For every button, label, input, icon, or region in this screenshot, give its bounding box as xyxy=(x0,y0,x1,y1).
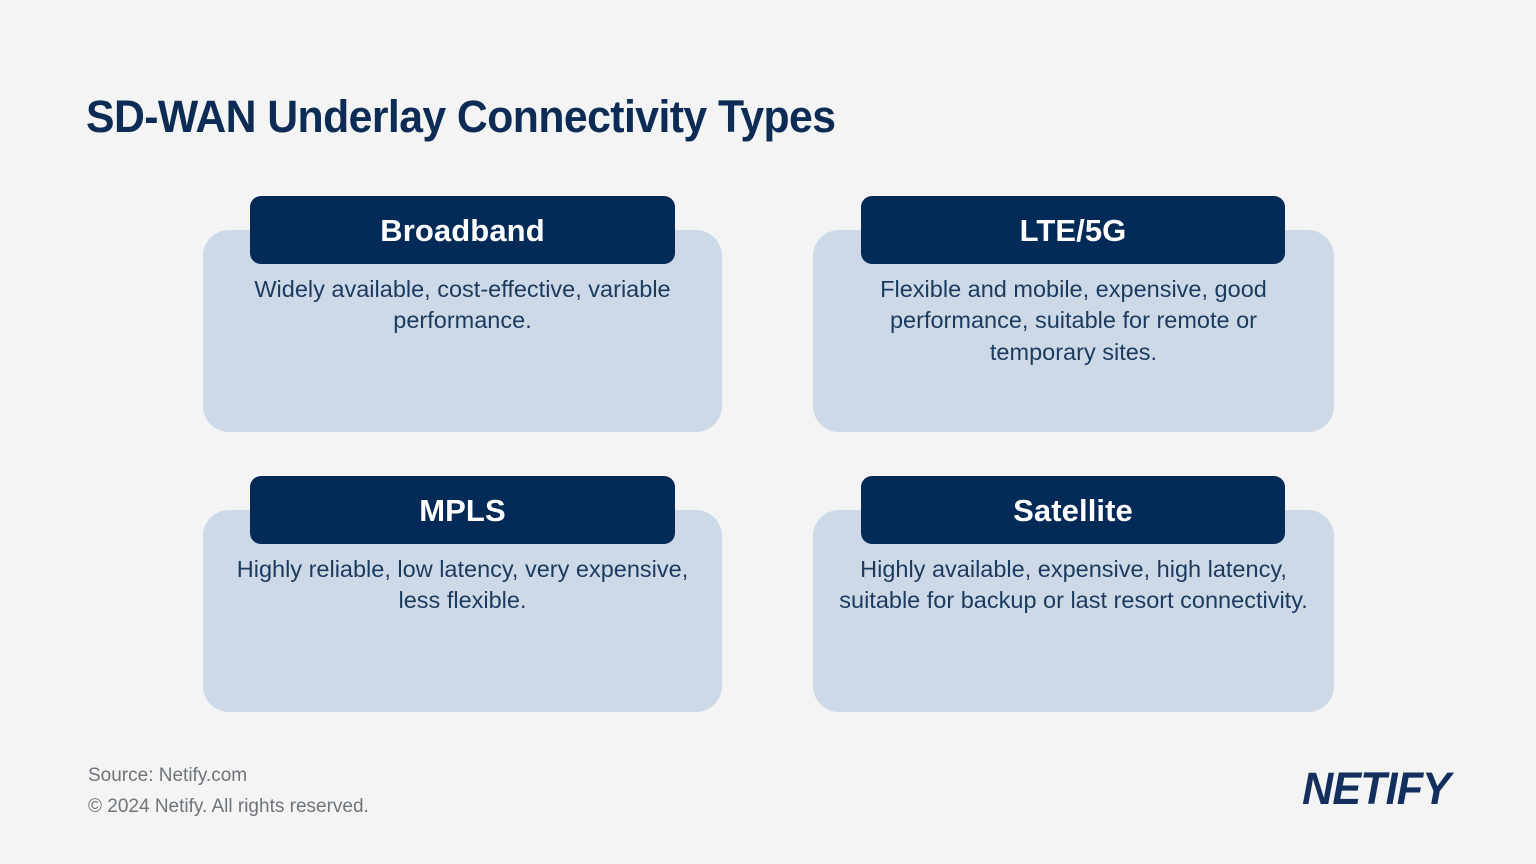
footer-source: Source: Netify.com xyxy=(88,760,247,791)
card-title-badge: MPLS xyxy=(250,476,675,544)
card-description: Highly available, expensive, high latenc… xyxy=(834,554,1313,617)
infographic-canvas: SD-WAN Underlay Connectivity Types Broad… xyxy=(0,0,1536,864)
netify-logo: NETIFY xyxy=(1302,763,1450,815)
card-title-badge: Satellite xyxy=(861,476,1285,544)
card-title-badge: LTE/5G xyxy=(861,196,1285,264)
card-title-label: Satellite xyxy=(1013,495,1133,526)
card-description: Highly reliable, low latency, very expen… xyxy=(224,554,701,617)
card-title-label: Broadband xyxy=(380,215,545,246)
card-title-badge: Broadband xyxy=(250,196,675,264)
card-title-label: MPLS xyxy=(419,495,506,526)
connectivity-card-grid: Broadband Widely available, cost-effecti… xyxy=(0,0,1536,864)
footer-copyright: © 2024 Netify. All rights reserved. xyxy=(88,791,369,822)
card-description: Widely available, cost-effective, variab… xyxy=(224,274,701,337)
card-title-label: LTE/5G xyxy=(1020,215,1127,246)
card-description: Flexible and mobile, expensive, good per… xyxy=(834,274,1313,368)
